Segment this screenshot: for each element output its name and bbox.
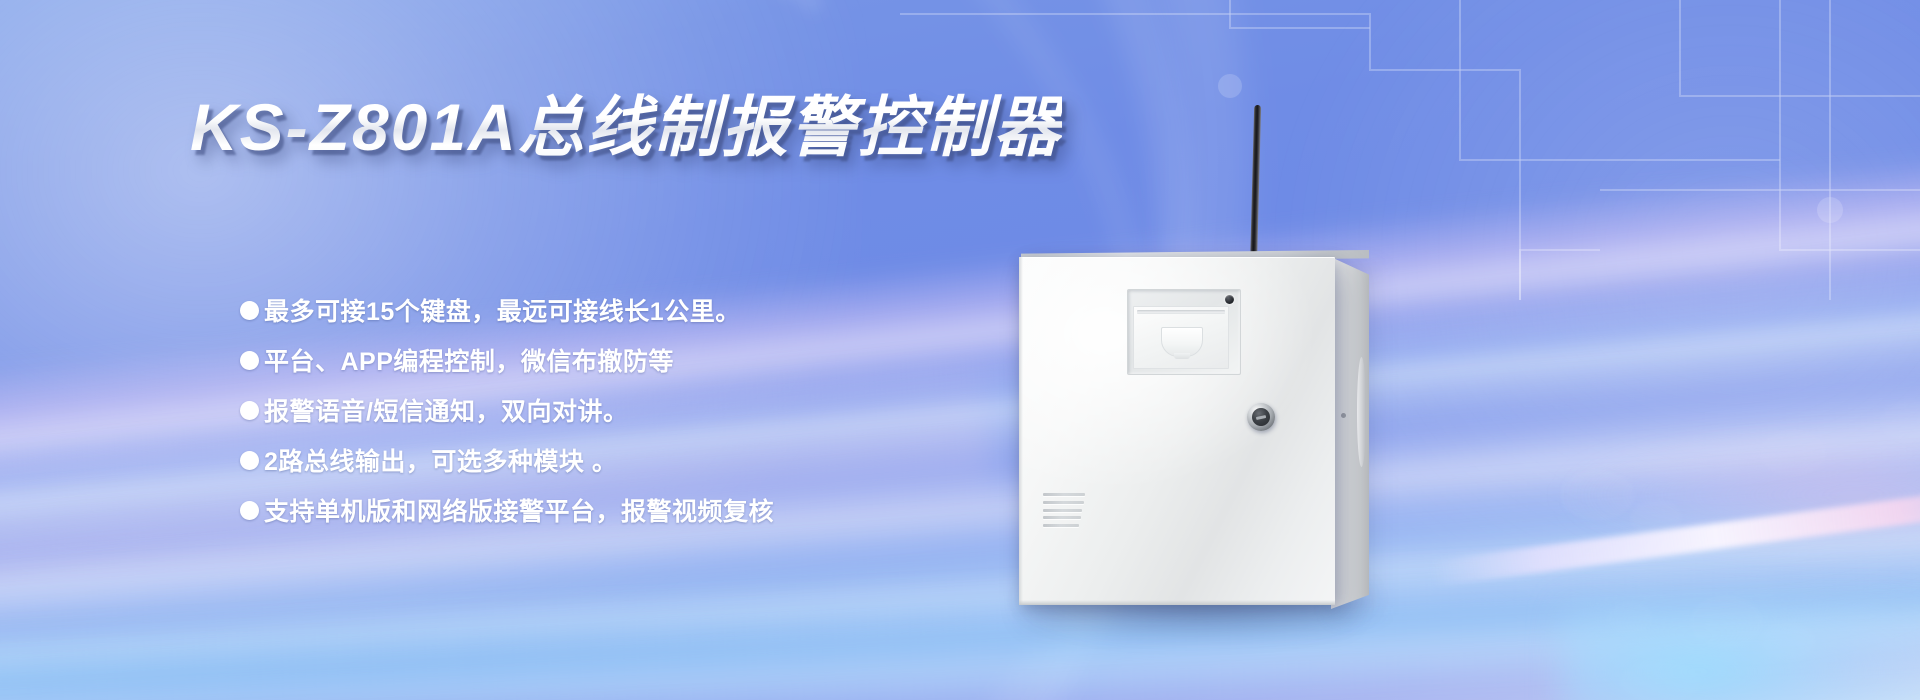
bullet-dot-icon <box>240 501 259 520</box>
feature-text: 最多可接15个键盘，最远可接线长1公里。 <box>264 292 741 328</box>
panel-pull-tab <box>1161 327 1203 357</box>
glow-bottom-right <box>1560 600 1920 700</box>
status-led-icon <box>1225 295 1234 304</box>
bullet-dot-icon <box>240 401 259 420</box>
lock-core <box>1252 408 1270 426</box>
list-item: 报警语音/短信通知，双向对讲。 <box>240 387 1060 433</box>
enclosure-edge-left <box>1019 257 1023 605</box>
enclosure-edge-bottom <box>1019 600 1335 605</box>
feature-text: 平台、APP编程控制，微信布撤防等 <box>264 342 674 378</box>
key-lock-icon <box>1247 403 1275 431</box>
enclosure-side-screw <box>1341 413 1346 418</box>
bullet-dot-icon <box>240 351 259 370</box>
recessed-printer-panel <box>1127 289 1241 375</box>
ventilation-slots <box>1043 493 1085 527</box>
vent-line <box>1043 524 1079 527</box>
feature-text: 报警语音/短信通知，双向对讲。 <box>264 392 628 428</box>
vent-line <box>1043 516 1081 519</box>
panel-tab-notch <box>1174 353 1190 359</box>
product-image-alarm-control-panel <box>1005 95 1565 635</box>
enclosure-side-seam <box>1357 357 1366 467</box>
page-title: KS-Z801A总线制报警控制器 <box>190 74 1062 170</box>
enclosure-front-door <box>1019 257 1335 605</box>
product-banner: KS-Z801A总线制报警控制器 最多可接15个键盘，最远可接线长1公里。 平台… <box>0 0 1920 700</box>
list-item: 最多可接15个键盘，最远可接线长1公里。 <box>240 287 1060 333</box>
feature-text: 2路总线输出，可选多种模块 。 <box>264 442 617 478</box>
printer-panel-inner <box>1133 306 1229 369</box>
vent-line <box>1043 493 1085 496</box>
antenna-icon <box>1250 105 1261 265</box>
list-item: 2路总线输出，可选多种模块 。 <box>240 437 1060 483</box>
paper-slot <box>1137 310 1225 314</box>
list-item: 平台、APP编程控制，微信布撤防等 <box>240 337 1060 383</box>
lock-keyway <box>1256 415 1266 420</box>
feature-list: 最多可接15个键盘，最远可接线长1公里。 平台、APP编程控制，微信布撤防等 报… <box>240 287 1060 537</box>
bullet-dot-icon <box>240 451 259 470</box>
list-item: 支持单机版和网络版接警平台，报警视频复核 <box>240 487 1060 533</box>
vent-line <box>1043 509 1082 512</box>
vent-line <box>1043 501 1084 504</box>
bullet-dot-icon <box>240 301 259 320</box>
feature-text: 支持单机版和网络版接警平台，报警视频复核 <box>264 492 774 528</box>
